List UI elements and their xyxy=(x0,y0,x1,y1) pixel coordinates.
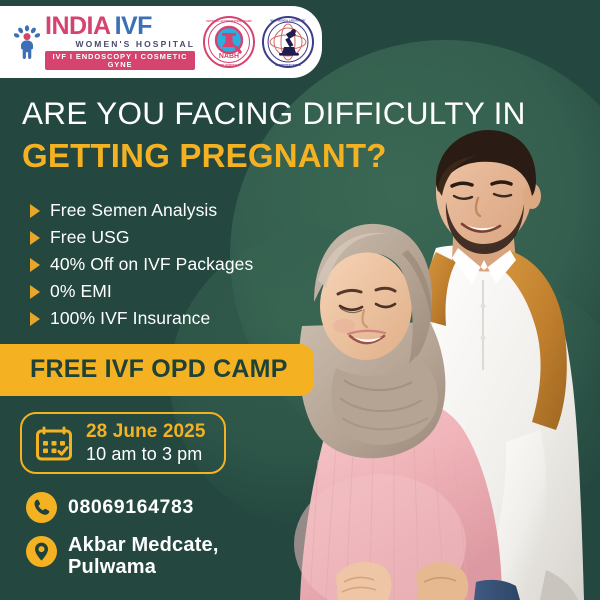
event-time: 10 am to 3 pm xyxy=(86,444,206,465)
calendar-icon xyxy=(34,423,74,463)
phone-number[interactable]: 08069164783 xyxy=(68,497,194,519)
person-with-flower-petals-icon xyxy=(14,25,40,59)
phone-icon xyxy=(26,492,57,523)
offer-label: 0% EMI xyxy=(50,281,112,302)
event-date: 28 June 2025 xyxy=(86,421,206,443)
brand-header-bar: INDIA IVF WOMEN'S HOSPITAL IVF I ENDOSCO… xyxy=(0,6,322,78)
brand-services-ribbon: IVF I ENDOSCOPY I COSMETIC GYNE xyxy=(45,51,195,70)
event-datetime-box: 28 June 2025 10 am to 3 pm xyxy=(20,412,226,474)
offer-label: 40% Off on IVF Packages xyxy=(50,254,253,275)
triangle-bullet-icon xyxy=(30,258,40,272)
brand-name-india: INDIA xyxy=(45,14,111,39)
headline-block: ARE YOU FACING DIFFICULTY IN GETTING PRE… xyxy=(22,96,582,175)
nabh-accreditation-badge: NABH NATIONAL ACCREDITATION BOARD FOR HO… xyxy=(203,16,255,68)
address-contact-row[interactable]: Akbar Medcate, Pulwama xyxy=(26,534,219,579)
camp-banner-label: FREE IVF OPD CAMP xyxy=(30,355,288,383)
lab-accreditation-badge: NABL MEDICAL LABORATORY ACCREDITED CENTR… xyxy=(262,16,314,68)
offer-label: 100% IVF Insurance xyxy=(50,308,210,329)
phone-contact-row[interactable]: 08069164783 xyxy=(26,492,194,523)
svg-text:NABL MEDICAL LABORATORY: NABL MEDICAL LABORATORY xyxy=(270,19,306,22)
headline-line-2: GETTING PREGNANT? xyxy=(22,138,582,175)
offer-label: Free USG xyxy=(50,227,130,248)
list-item: 100% IVF Insurance xyxy=(30,308,253,329)
svg-text:NABH: NABH xyxy=(219,53,239,60)
brand-wordmark: INDIA IVF WOMEN'S HOSPITAL IVF I ENDOSCO… xyxy=(45,14,195,71)
clinic-address[interactable]: Akbar Medcate, Pulwama xyxy=(68,534,219,579)
list-item: 0% EMI xyxy=(30,281,253,302)
svg-text:ACCREDITED CENTRE: ACCREDITED CENTRE xyxy=(275,64,302,67)
headline-line-1: ARE YOU FACING DIFFICULTY IN xyxy=(22,96,582,131)
triangle-bullet-icon xyxy=(30,204,40,218)
offers-list: Free Semen Analysis Free USG 40% Off on … xyxy=(30,200,253,329)
ivf-campaign-poster: INDIA IVF WOMEN'S HOSPITAL IVF I ENDOSCO… xyxy=(0,0,600,600)
brand-subtitle: WOMEN'S HOSPITAL xyxy=(45,40,195,49)
triangle-bullet-icon xyxy=(30,285,40,299)
offer-label: Free Semen Analysis xyxy=(50,200,217,221)
accreditation-badges: NABH NATIONAL ACCREDITATION BOARD FOR HO… xyxy=(203,16,314,68)
list-item: 40% Off on IVF Packages xyxy=(30,254,253,275)
triangle-bullet-icon xyxy=(30,312,40,326)
brand-name-ivf: IVF xyxy=(115,14,152,39)
svg-text:FOR HOSPITALS: FOR HOSPITALS xyxy=(219,63,240,67)
event-datetime-text: 28 June 2025 10 am to 3 pm xyxy=(86,421,206,465)
free-camp-banner: FREE IVF OPD CAMP xyxy=(0,344,314,396)
list-item: Free Semen Analysis xyxy=(30,200,253,221)
location-pin-icon xyxy=(26,536,57,567)
background-glow-bottom xyxy=(370,280,600,540)
svg-text:NATIONAL ACCREDITATION BOARD: NATIONAL ACCREDITATION BOARD xyxy=(206,19,251,23)
triangle-bullet-icon xyxy=(30,231,40,245)
brand-logo: INDIA IVF WOMEN'S HOSPITAL IVF I ENDOSCO… xyxy=(14,14,195,71)
list-item: Free USG xyxy=(30,227,253,248)
